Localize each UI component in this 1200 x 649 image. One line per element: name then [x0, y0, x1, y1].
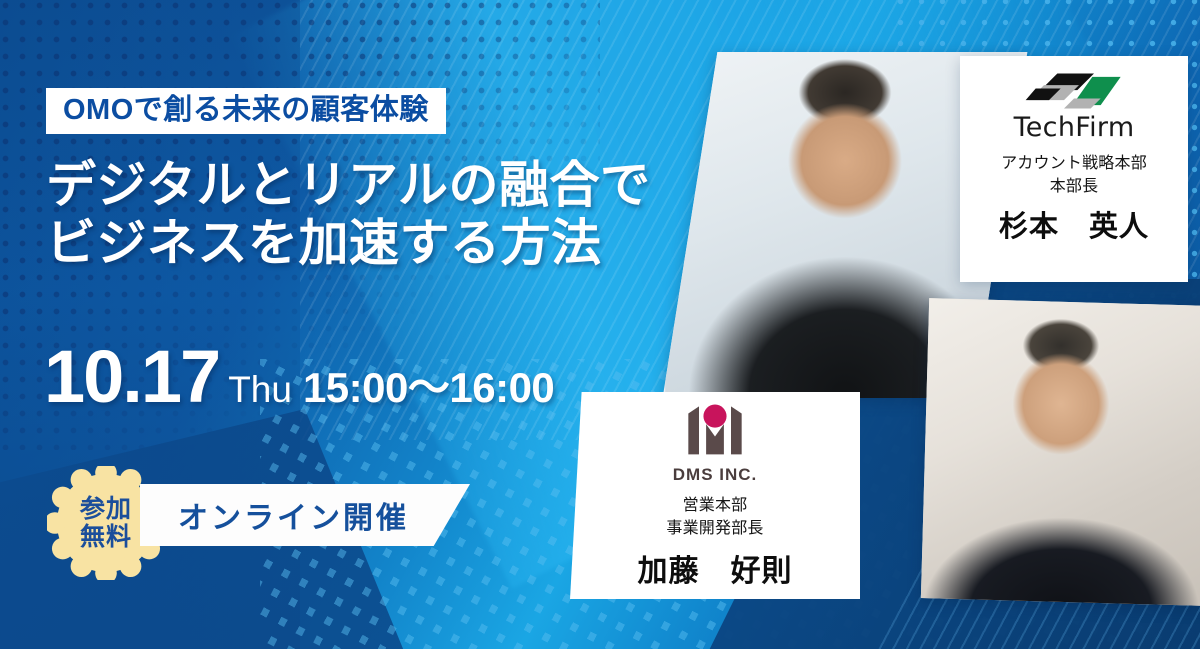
- speaker-role-line-1: 営業本部: [666, 495, 763, 518]
- speaker-card-techfirm: TechFirm アカウント戦略本部 本部長 杉本 英人: [960, 56, 1188, 282]
- event-time: 15:00〜16:00: [303, 354, 554, 415]
- page-title: デジタルとリアルの融合で ビジネスを加速する方法: [46, 156, 706, 272]
- title-line-2: ビジネスを加速する方法: [46, 214, 706, 272]
- speaker-role-dms: 営業本部 事業開発部長: [666, 495, 763, 540]
- speaker-role-techfirm: アカウント戦略本部 本部長: [1001, 153, 1147, 198]
- speaker-photo-kato: [921, 298, 1200, 606]
- speaker-company-techfirm: TechFirm: [1014, 114, 1135, 141]
- webinar-banner: OMOで創る未来の顧客体験 デジタルとリアルの融合で ビジネスを加速する方法 1…: [0, 0, 1200, 649]
- speaker-role-line-1: アカウント戦略本部: [1001, 153, 1147, 176]
- speaker-name-kato: 加藤 好則: [638, 546, 793, 590]
- kicker-badge: OMOで創る未来の顧客体験: [46, 88, 446, 134]
- free-badge-line-2: 無料: [80, 523, 132, 552]
- event-date: 10.17: [44, 340, 219, 414]
- speaker-name-sugimoto: 杉本 英人: [999, 203, 1149, 245]
- format-banner: オンライン開催: [140, 484, 470, 546]
- free-badge-line-1: 参加: [80, 495, 132, 524]
- dms-logo-icon: [683, 402, 747, 464]
- format-banner-label: オンライン開催: [140, 484, 470, 546]
- event-day-of-week: Thu: [228, 369, 292, 411]
- title-line-1: デジタルとリアルの融合で: [46, 157, 651, 213]
- speaker-company-dms: DMS INC.: [673, 466, 758, 483]
- techfirm-logo-icon: [1024, 70, 1124, 112]
- speaker-photo-kato-image: [921, 298, 1200, 606]
- event-datetime: 10.17 Thu 15:00〜16:00: [44, 340, 554, 415]
- speaker-role-line-2: 本部長: [1001, 176, 1147, 199]
- speaker-role-line-2: 事業開発部長: [666, 518, 763, 541]
- speaker-card-dms: DMS INC. 営業本部 事業開発部長 加藤 好則: [570, 392, 860, 599]
